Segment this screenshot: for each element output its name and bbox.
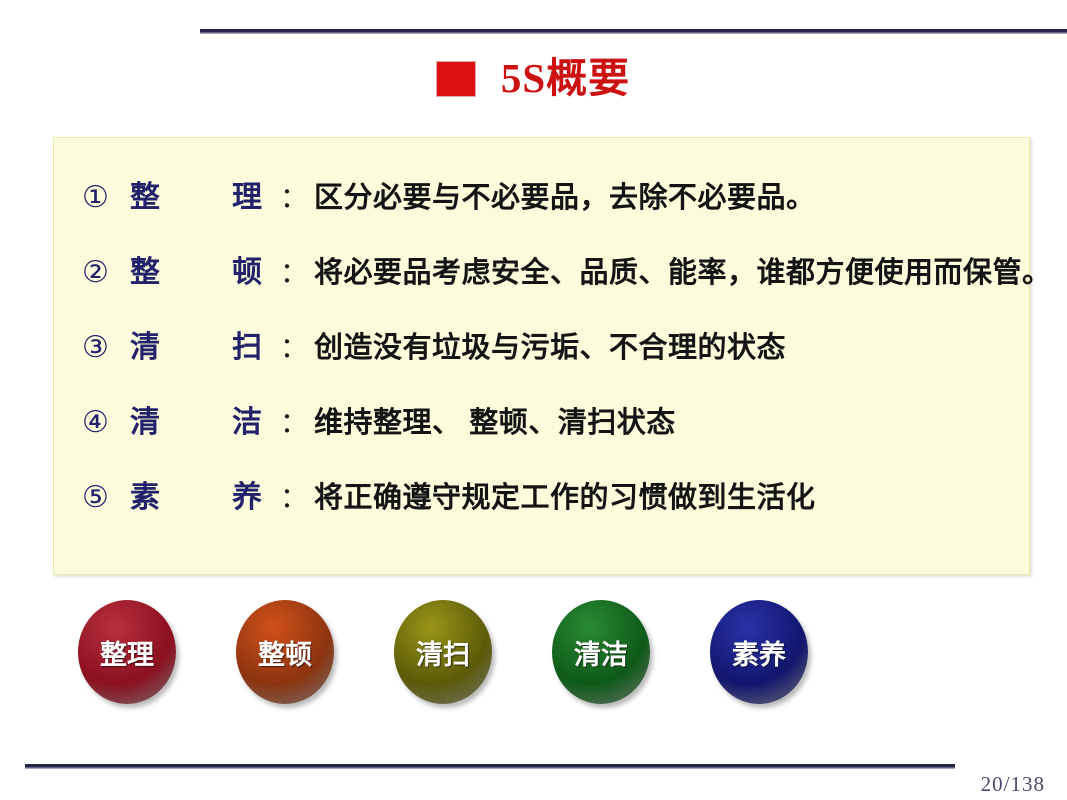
list-item-term: 整 理 bbox=[130, 172, 280, 216]
term-char-second: 洁 bbox=[232, 397, 262, 441]
list-item-term: 清 扫 bbox=[130, 322, 280, 366]
list-item-description: 将正确遵守规定工作的习惯做到生活化 bbox=[314, 474, 816, 516]
list-item: ④ 清 洁 ： 维持整理、 整顿、清扫状态 bbox=[54, 397, 1029, 472]
list-item-number: ④ bbox=[82, 405, 130, 440]
term-char-first: 整 bbox=[130, 247, 160, 291]
top-divider-line bbox=[200, 29, 1067, 34]
badge-circle: 整理 bbox=[78, 600, 176, 704]
list-item-colon: ： bbox=[280, 251, 314, 291]
term-char-second: 理 bbox=[232, 172, 262, 216]
badge-row: 整理 整顿 清扫 清洁 素养 bbox=[78, 598, 938, 706]
badge-circle: 素养 bbox=[710, 600, 808, 704]
list-item-colon: ： bbox=[280, 401, 314, 441]
bottom-divider-line bbox=[25, 764, 955, 769]
badge-label: 清洁 bbox=[574, 633, 628, 672]
term-char-first: 整 bbox=[130, 172, 160, 216]
red-square-bullet-icon bbox=[437, 62, 475, 96]
list-item-number: ② bbox=[82, 255, 130, 290]
list-item: ③ 清 扫 ： 创造没有垃圾与污垢、不合理的状态 bbox=[54, 322, 1029, 397]
badge-circle: 整顿 bbox=[236, 600, 334, 704]
list-item: ⑤ 素 养 ： 将正确遵守规定工作的习惯做到生活化 bbox=[54, 472, 1029, 547]
list-item-colon: ： bbox=[280, 476, 314, 516]
list-item-colon: ： bbox=[280, 326, 314, 366]
list-item-description: 维持整理、 整顿、清扫状态 bbox=[314, 399, 676, 441]
list-item: ② 整 顿 ： 将必要品考虑安全、品质、能率，谁都方便使用而保管。 bbox=[54, 247, 1029, 322]
badge-label: 整理 bbox=[100, 633, 154, 672]
badge-label: 素养 bbox=[732, 633, 786, 672]
badge-label: 整顿 bbox=[258, 633, 312, 672]
list-item-term: 清 洁 bbox=[130, 397, 280, 441]
badge-circle: 清洁 bbox=[552, 600, 650, 704]
list-item-description: 将必要品考虑安全、品质、能率，谁都方便使用而保管。 bbox=[314, 249, 1052, 291]
page-title: 5S概要 bbox=[501, 56, 630, 101]
badge-circle: 清扫 bbox=[394, 600, 492, 704]
list-item: ① 整 理 ： 区分必要与不必要品，去除不必要品。 bbox=[54, 172, 1029, 247]
list-item-term: 整 顿 bbox=[130, 247, 280, 291]
term-char-first: 素 bbox=[130, 472, 160, 516]
page-number: 20/138 bbox=[981, 772, 1045, 797]
term-char-first: 清 bbox=[130, 322, 160, 366]
list-item-description: 创造没有垃圾与污垢、不合理的状态 bbox=[314, 324, 786, 366]
slide-canvas: 5S概要 ① 整 理 ： 区分必要与不必要品，去除不必要品。 ② 整 顿 ： 将… bbox=[0, 0, 1067, 800]
content-panel: ① 整 理 ： 区分必要与不必要品，去除不必要品。 ② 整 顿 ： 将必要品考虑… bbox=[53, 137, 1030, 575]
term-char-second: 顿 bbox=[232, 247, 262, 291]
list-item-number: ① bbox=[82, 180, 130, 215]
slide-title-row: 5S概要 bbox=[0, 56, 1067, 101]
list-item-term: 素 养 bbox=[130, 472, 280, 516]
term-char-second: 养 bbox=[232, 472, 262, 516]
badge-label: 清扫 bbox=[416, 633, 470, 672]
list-item-colon: ： bbox=[280, 176, 314, 216]
list-item-number: ③ bbox=[82, 330, 130, 365]
term-char-second: 扫 bbox=[232, 322, 262, 366]
term-char-first: 清 bbox=[130, 397, 160, 441]
list-item-number: ⑤ bbox=[82, 480, 130, 515]
list-item-description: 区分必要与不必要品，去除不必要品。 bbox=[314, 174, 816, 216]
